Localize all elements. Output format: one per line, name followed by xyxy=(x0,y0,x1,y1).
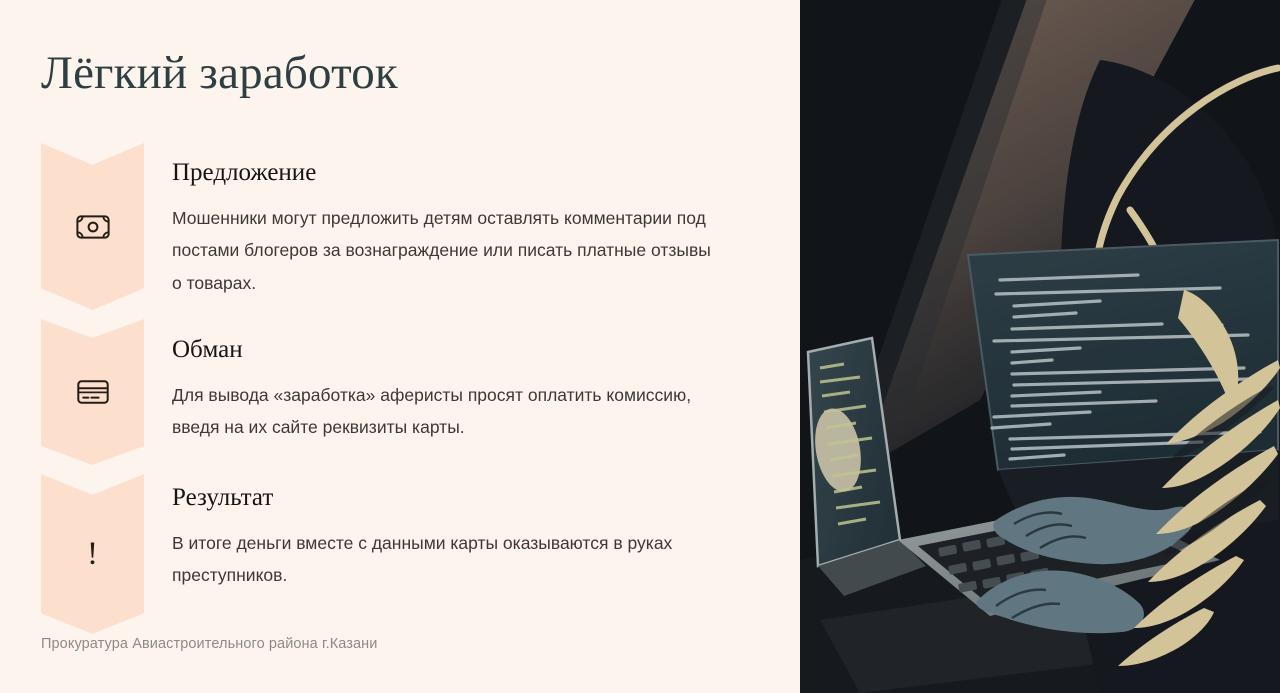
section-offer: Предложение Мошенники могут предложить д… xyxy=(172,158,732,335)
badge-result: ! xyxy=(41,474,144,634)
credit-card-icon xyxy=(73,372,113,412)
section-body: В итоге деньги вместе с данными карты ок… xyxy=(172,527,717,592)
banknote-icon xyxy=(73,207,113,247)
section-title: Обман xyxy=(172,335,732,365)
section-title: Предложение xyxy=(172,158,732,188)
exclamation-glyph: ! xyxy=(87,538,98,571)
illustration-svg xyxy=(800,0,1280,693)
section-body: Мошенники могут предложить детям оставля… xyxy=(172,202,717,299)
content-pane: Лёгкий заработок xyxy=(0,0,800,693)
footer-attribution: Прокуратура Авиастроительного района г.К… xyxy=(41,636,377,652)
section-deception: Обман Для вывода «заработка» аферисты пр… xyxy=(172,335,732,483)
badge-column: ! xyxy=(41,143,144,634)
badge-offer xyxy=(41,143,144,310)
badge-deception xyxy=(41,319,144,465)
section-body: Для вывода «заработка» аферисты просят о… xyxy=(172,379,717,444)
section-result: Результат В итоге деньги вместе с данным… xyxy=(172,483,732,603)
slide-root: Лёгкий заработок xyxy=(0,0,1280,693)
page-title: Лёгкий заработок xyxy=(41,47,398,100)
hooded-hacker-at-laptop-illustration xyxy=(800,0,1280,693)
section-title: Результат xyxy=(172,483,732,513)
section-list: Предложение Мошенники могут предложить д… xyxy=(172,158,732,603)
exclamation-icon: ! xyxy=(73,534,113,574)
